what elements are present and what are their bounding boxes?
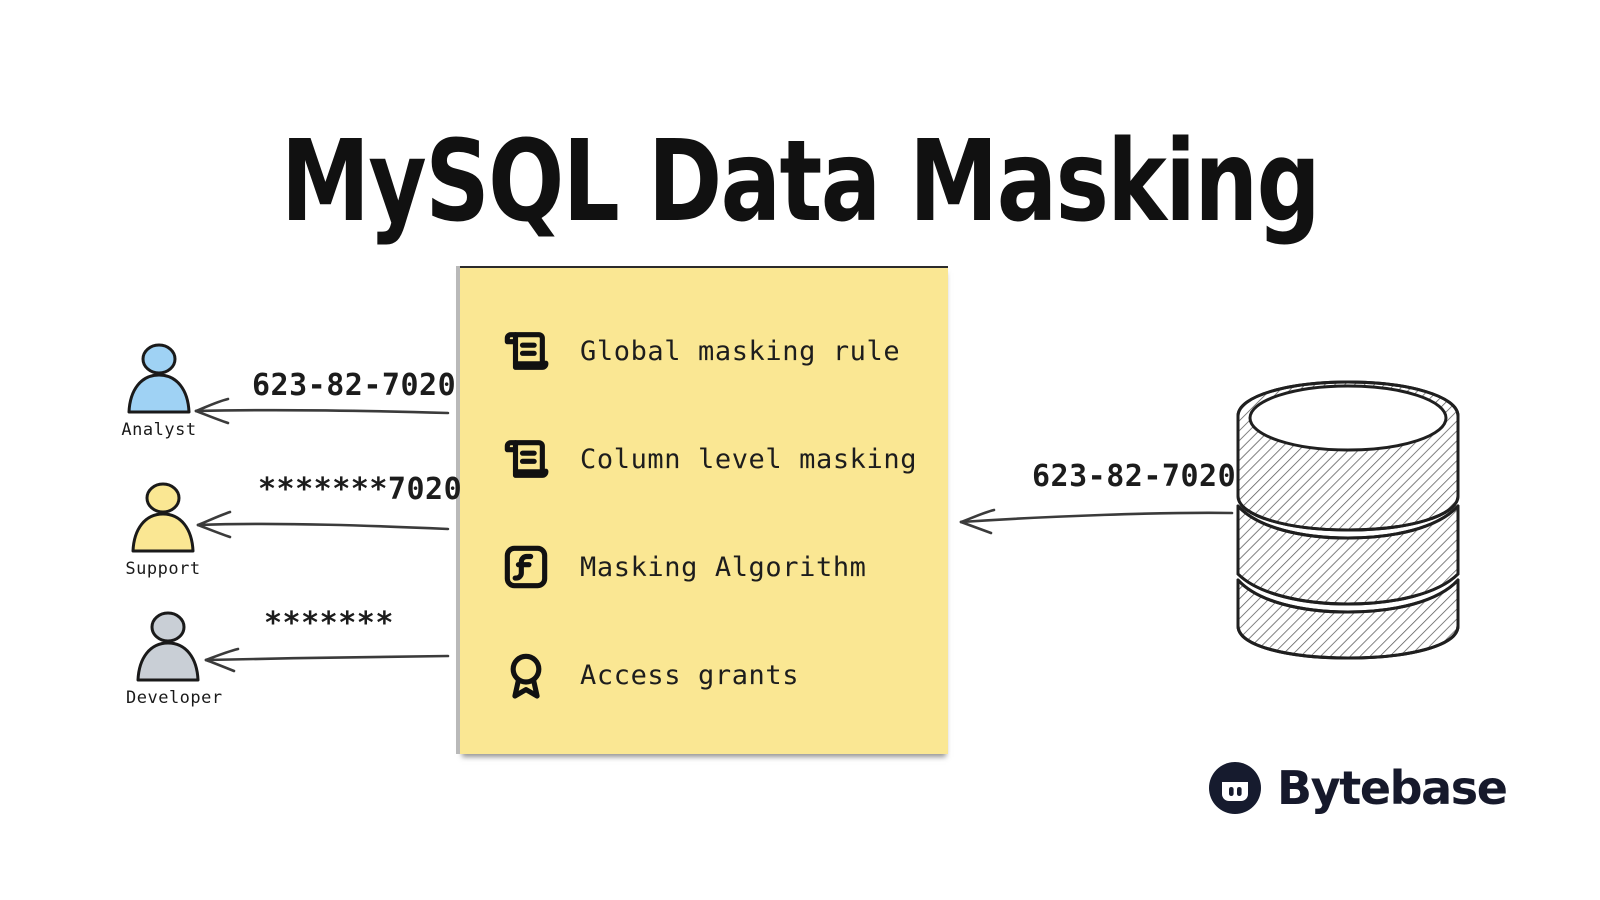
feature-row-column-level-masking: Column level masking xyxy=(498,428,917,490)
feature-label: Global masking rule xyxy=(580,336,900,367)
database-icon xyxy=(1232,378,1464,660)
bytebase-brand-logo: Bytebase xyxy=(1207,760,1507,816)
consumer-analyst: Analyst xyxy=(117,342,201,440)
masking-features-panel: Global masking rule Column level masking… xyxy=(460,266,948,754)
consumer-developer: Developer xyxy=(126,610,210,708)
feature-row-masking-algorithm: Masking Algorithm xyxy=(498,536,867,598)
consumer-role-label: Developer xyxy=(126,688,210,708)
page-title: MySQL Data Masking xyxy=(160,126,1440,238)
feature-row-access-grants: Access grants xyxy=(498,644,799,706)
brand-name: Bytebase xyxy=(1277,765,1507,811)
feature-label: Column level masking xyxy=(580,444,917,475)
arrow-left-icon xyxy=(954,500,1234,538)
consumer-role-label: Analyst xyxy=(117,420,201,440)
arrow-left-icon xyxy=(190,392,450,428)
arrow-left-icon xyxy=(192,506,450,542)
bytebase-logo-icon xyxy=(1207,760,1263,816)
consumer-role-label: Support xyxy=(121,559,205,579)
value-label-source: 623-82-7020 xyxy=(1032,459,1236,494)
user-icon xyxy=(117,342,201,418)
value-label-support: *******7020 xyxy=(258,472,462,507)
function-icon xyxy=(498,539,554,595)
feature-label: Access grants xyxy=(580,660,799,691)
value-label-developer: ******* xyxy=(264,606,394,641)
scroll-icon xyxy=(498,323,554,379)
feature-row-global-masking-rule: Global masking rule xyxy=(498,320,900,382)
scroll-icon xyxy=(498,431,554,487)
user-icon xyxy=(126,610,210,686)
feature-label: Masking Algorithm xyxy=(580,552,867,583)
award-icon xyxy=(498,647,554,703)
arrow-left-icon xyxy=(200,640,450,676)
